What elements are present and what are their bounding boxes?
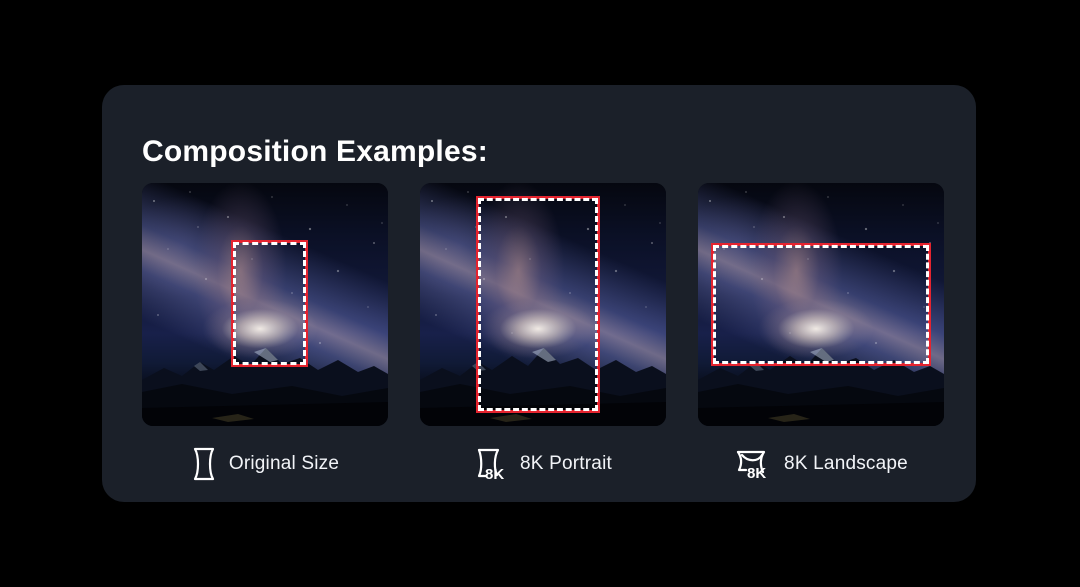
caption-8k-portrait: 8K 8K Portrait [420,444,666,484]
composition-examples-panel: Composition Examples: [102,85,976,502]
page-title: Composition Examples: [142,135,488,169]
example-label: 8K Portrait [520,453,612,475]
original-size-frame-icon [191,447,217,481]
caption-original-size: Original Size [142,444,388,484]
example-label: 8K Landscape [784,453,908,475]
icon-badge-text: 8K [747,465,766,482]
screen: Composition Examples: [0,0,1080,587]
caption-8k-landscape: 8K 8K Landscape [698,444,944,484]
landscape-frame-icon: 8K [734,446,772,482]
portrait-frame-icon: 8K [474,446,508,482]
example-8k-landscape[interactable]: 8K 8K Landscape [698,183,944,484]
thumbnail-8k-portrait[interactable] [420,183,666,426]
icon-badge-text: 8K [485,466,504,482]
thumbnail-original-size[interactable] [142,183,388,426]
thumbnail-8k-landscape[interactable] [698,183,944,426]
crop-rectangle-8k-portrait[interactable] [476,196,600,413]
crop-rectangle-original-size[interactable] [231,240,308,367]
examples-row: Original Size [142,183,936,484]
example-8k-portrait[interactable]: 8K 8K Portrait [420,183,666,484]
example-original-size[interactable]: Original Size [142,183,388,484]
example-label: Original Size [229,453,339,475]
crop-rectangle-8k-landscape[interactable] [711,243,931,366]
